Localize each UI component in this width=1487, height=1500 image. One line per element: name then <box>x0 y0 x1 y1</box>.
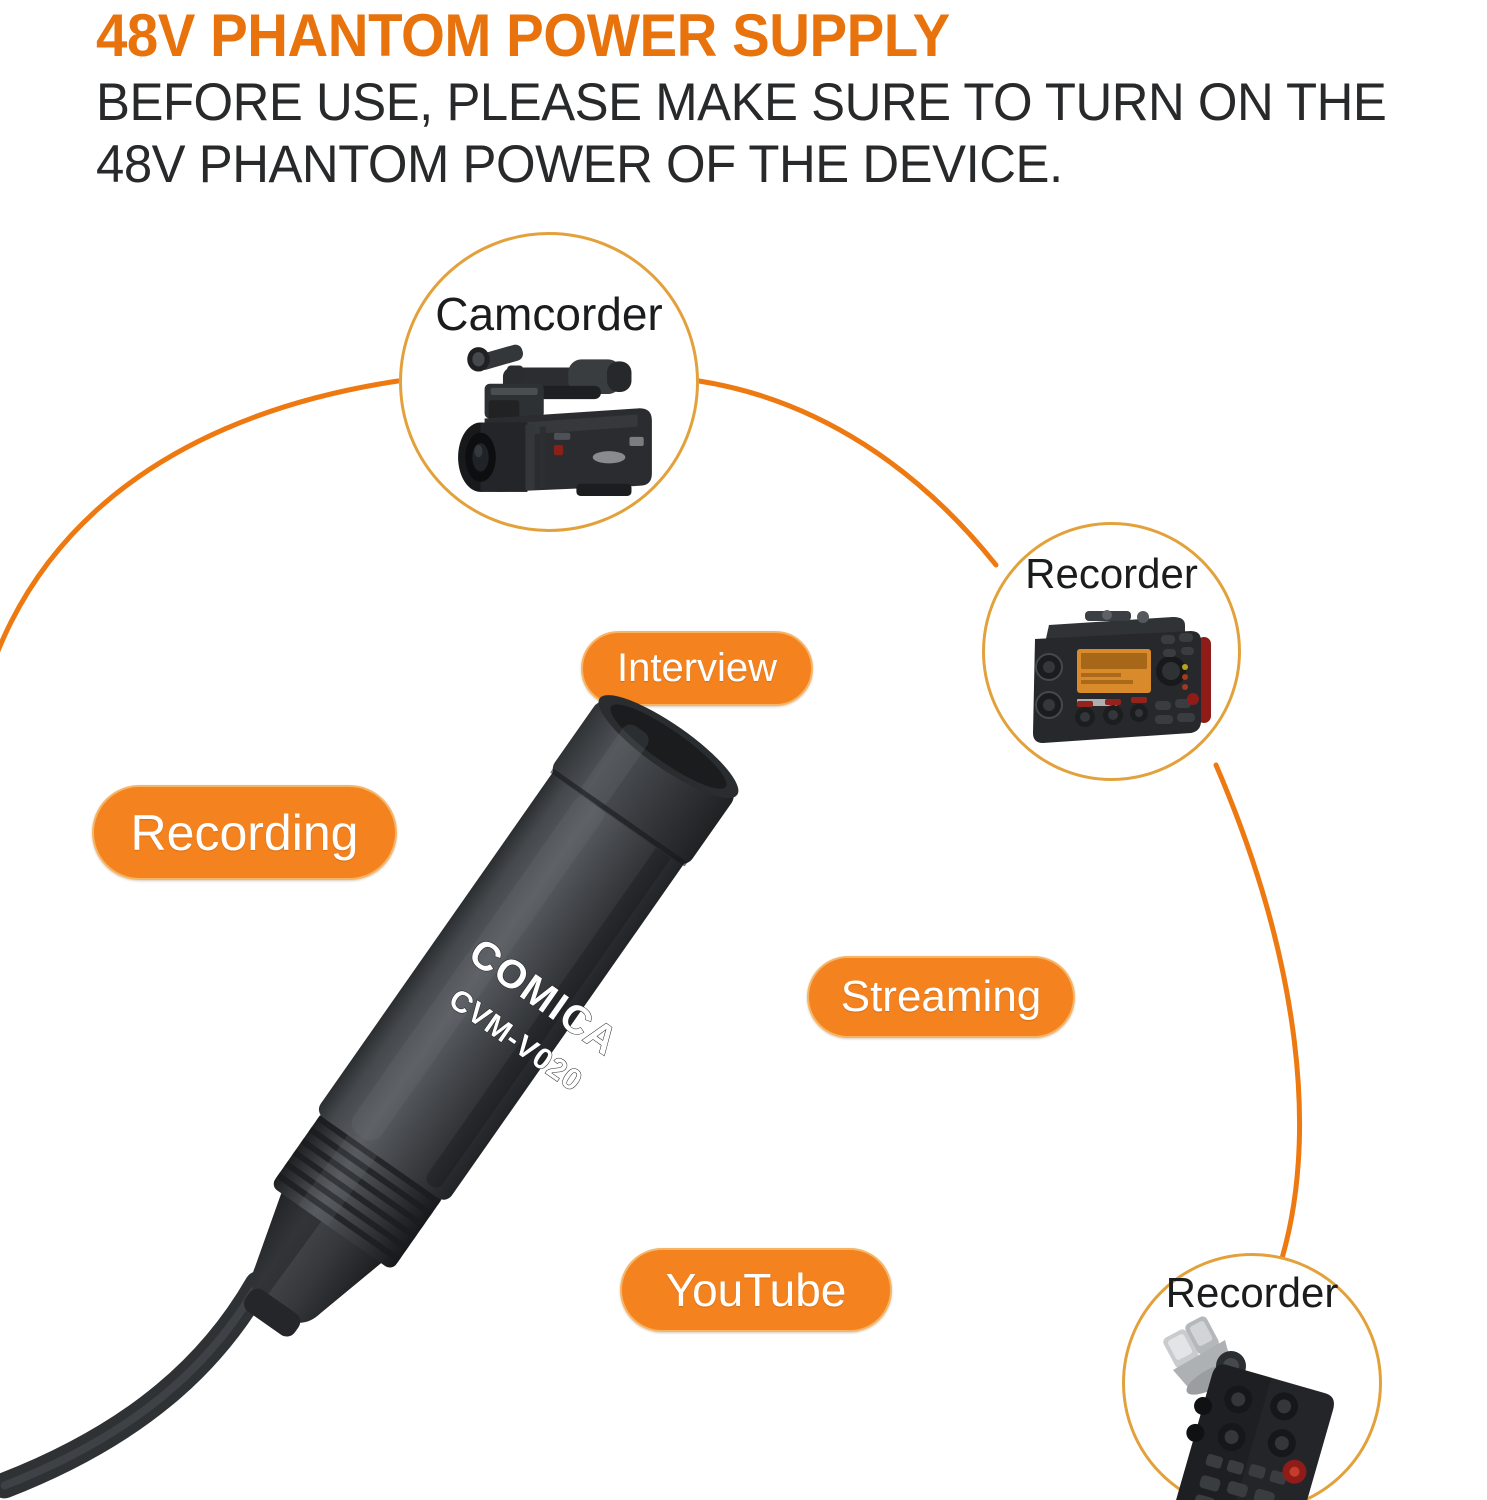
camcorder-icon <box>402 235 702 535</box>
tag-youtube-label: YouTube <box>666 1263 847 1317</box>
node-camcorder[interactable]: Camcorder <box>399 232 699 532</box>
infographic-page: 48V PHANTOM POWER SUPPLY BEFORE USE, PLE… <box>0 0 1487 1500</box>
tag-interview-label: Interview <box>617 646 777 691</box>
handheld-recorder-icon <box>1125 1256 1385 1500</box>
connector-camcorder-to-recorder <box>699 381 996 565</box>
connector-left-arc <box>0 381 398 760</box>
connector-recorder-to-recorder <box>1216 765 1300 1268</box>
tag-recording-label: Recording <box>131 804 359 862</box>
tag-recording[interactable]: Recording <box>92 785 397 880</box>
tag-streaming[interactable]: Streaming <box>807 956 1075 1038</box>
tag-youtube[interactable]: YouTube <box>620 1248 892 1332</box>
node-recorder-bottom[interactable]: Recorder <box>1122 1253 1382 1500</box>
field-recorder-icon <box>985 525 1244 784</box>
node-recorder-top[interactable]: Recorder <box>982 522 1241 781</box>
tag-streaming-label: Streaming <box>841 972 1042 1022</box>
tag-interview[interactable]: Interview <box>581 631 813 706</box>
